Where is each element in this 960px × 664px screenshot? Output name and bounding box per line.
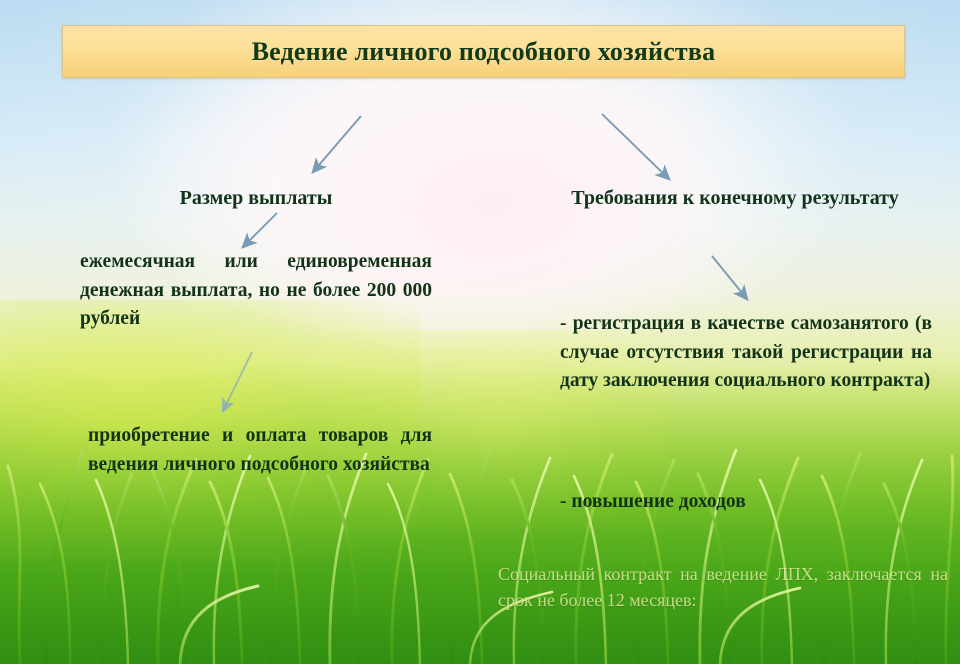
right-column-income-text: - повышение доходов [560,488,932,517]
title-banner: Ведение личного подсобного хозяйства [62,25,905,78]
footnote-contract-term: Социальный контракт на ведение ЛПХ, закл… [498,562,948,613]
slide-canvas: Ведение личного подсобного хозяйства Раз… [0,0,960,664]
left-column-purchase-text: приобретение и оплата товаров для ведени… [88,422,432,479]
right-column-heading: Требования к конечному результату [540,186,930,212]
left-column-heading: Размер выплаты [96,186,416,212]
left-column-payment-size-text: ежемесячная или единовременная денежная … [80,248,432,334]
page-title: Ведение личного подсобного хозяйства [252,37,716,67]
right-column-registration-text: - регистрация в качестве самозанятого (в… [560,310,932,396]
